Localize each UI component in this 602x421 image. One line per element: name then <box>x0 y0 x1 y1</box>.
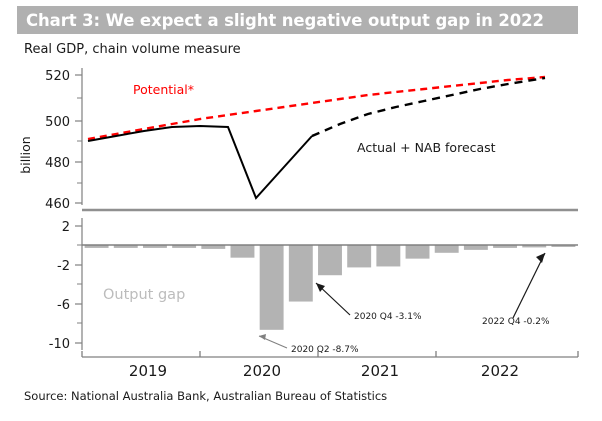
annotation-2022q4-label: 2022 Q4 -0.2% <box>482 317 550 327</box>
bar <box>347 245 371 267</box>
source-note: Source: National Australia Bank, Austral… <box>24 389 387 403</box>
x-year-label-2020: 2020 <box>243 362 281 380</box>
chart-plot-area: 520 500 480 460 billion Potential* Actua… <box>0 0 602 421</box>
annotation-2020q2-label: 2020 Q2 -8.7% <box>291 345 359 355</box>
chart-container: Chart 3: We expect a slight negative out… <box>0 0 602 421</box>
x-year-label-2021: 2021 <box>361 362 399 380</box>
upper-y-axis-title: billion <box>18 136 33 173</box>
x-year-label-2019: 2019 <box>129 362 167 380</box>
bar <box>231 245 255 258</box>
upper-ytick-label-500: 500 <box>45 115 70 130</box>
output-gap-watermark: Output gap <box>103 287 185 303</box>
upper-ytick-label-520: 520 <box>45 69 70 84</box>
actual-line-solid <box>88 126 312 198</box>
bar <box>406 245 430 259</box>
potential-series-label: Potential* <box>133 82 194 97</box>
lower-ytick-label-neg6: -6 <box>57 298 70 313</box>
annotation-2020q2: 2020 Q2 -8.7% <box>259 334 359 355</box>
upper-panel: 520 500 480 460 billion Potential* Actua… <box>18 68 545 212</box>
bar <box>464 245 488 250</box>
annotation-2020q4: 2020 Q4 -3.1% <box>316 283 422 322</box>
bar <box>376 245 400 266</box>
actual-series-label: Actual + NAB forecast <box>357 140 496 155</box>
lower-ytick-label-2: 2 <box>62 220 70 235</box>
forecast-line-dashed <box>312 78 545 136</box>
bar <box>318 245 342 275</box>
upper-ytick-label-460: 460 <box>45 197 70 212</box>
annotation-2022q4: 2022 Q4 -0.2% <box>482 253 550 327</box>
upper-ytick-label-480: 480 <box>45 156 70 171</box>
lower-panel: 2 -2 -6 -10 Output gap 2020 Q2 -8.7% 202… <box>49 218 578 380</box>
annotation-2020q4-label: 2020 Q4 -3.1% <box>354 312 422 322</box>
bar <box>289 245 313 302</box>
x-year-label-2022: 2022 <box>481 362 519 380</box>
lower-ytick-label-neg10: -10 <box>49 337 70 352</box>
bar <box>435 245 459 253</box>
bar <box>260 245 284 330</box>
lower-ytick-label-neg2: -2 <box>57 259 70 274</box>
